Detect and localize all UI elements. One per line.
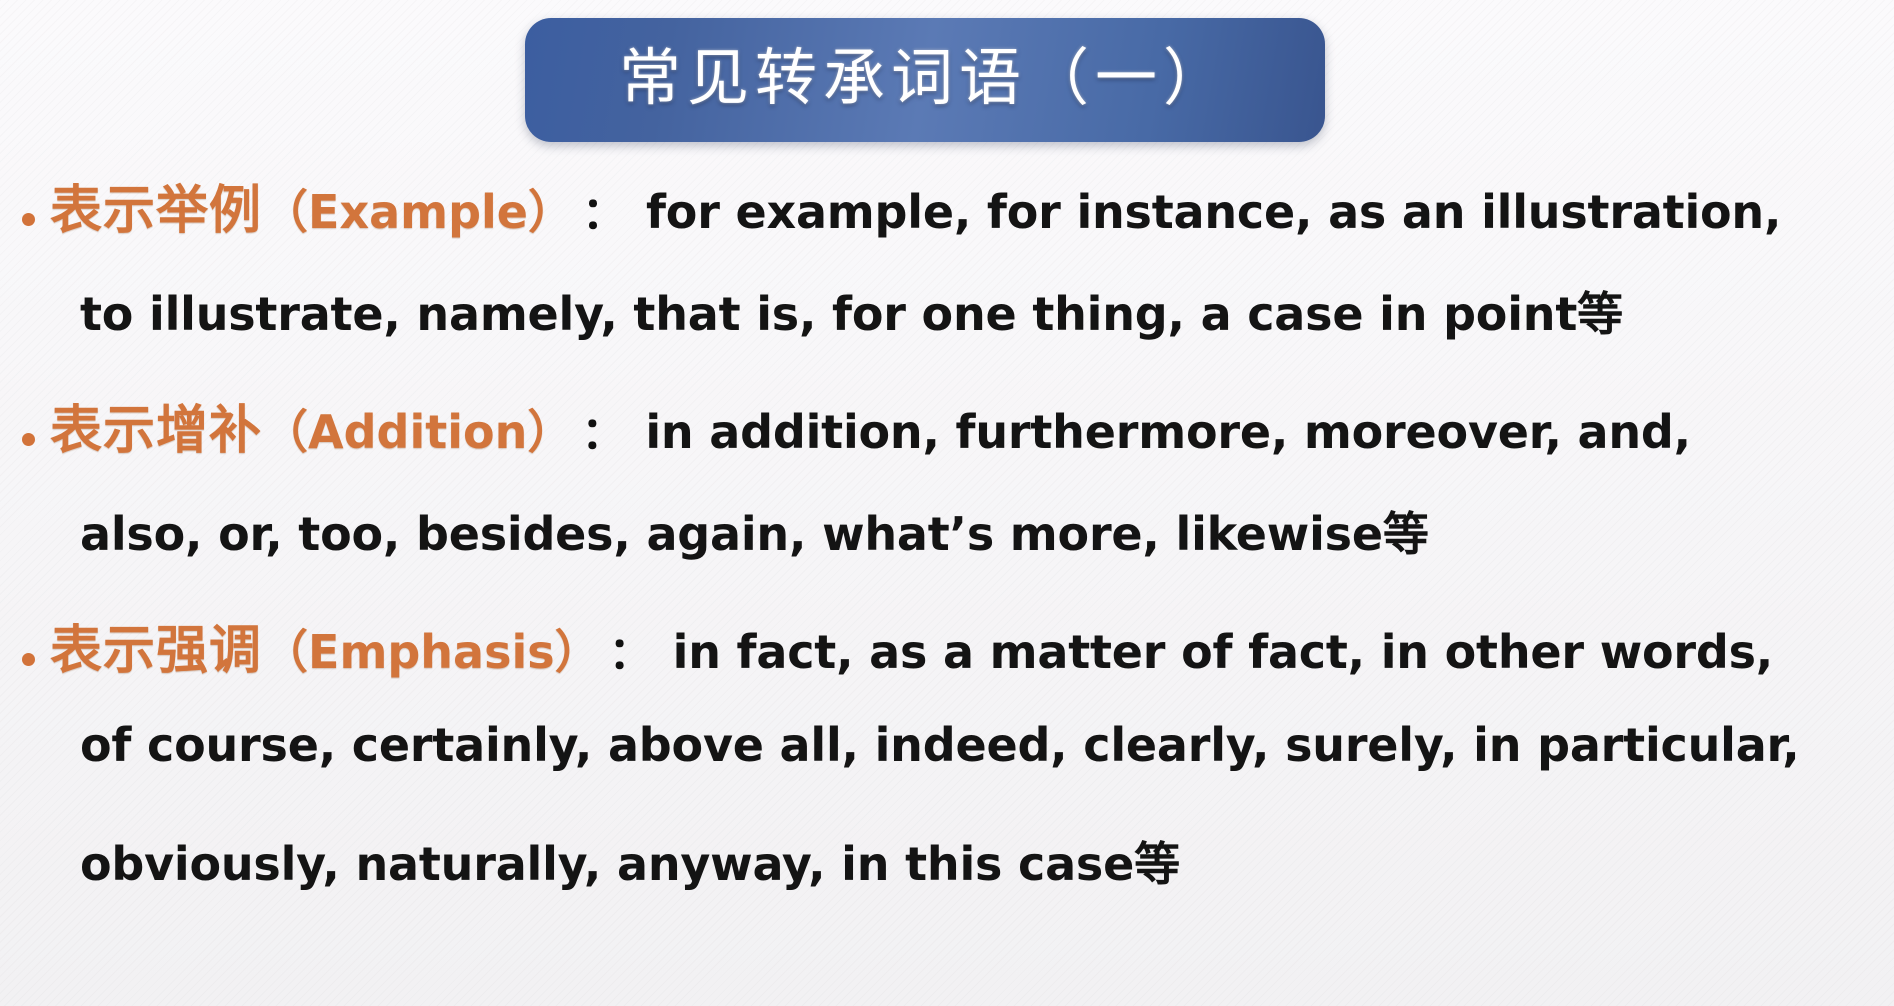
bullet-continuation: obviously, naturally, anyway, in this ca… bbox=[22, 828, 1894, 938]
bullet-list: 表示举例 （Example） ： for example, for instan… bbox=[0, 168, 1894, 938]
bullet-label-cn: 表示强调 bbox=[50, 608, 262, 683]
bullet-headline: 表示增补 （Addition） ： in addition, furthermo… bbox=[22, 388, 1894, 498]
bullet-text-line-3: obviously, naturally, anyway, in this ca… bbox=[22, 828, 1180, 894]
bullet-item-emphasis: 表示强调 （Emphasis） ： in fact, as a matter o… bbox=[0, 608, 1894, 938]
bullet-headline: 表示强调 （Emphasis） ： in fact, as a matter o… bbox=[22, 608, 1894, 718]
bullet-colon: ： bbox=[574, 177, 630, 241]
bullet-label-en: （Addition） bbox=[262, 396, 573, 462]
bullet-item-addition: 表示增补 （Addition） ： in addition, furthermo… bbox=[0, 388, 1894, 608]
bullet-label-en: （Emphasis） bbox=[262, 616, 601, 682]
bullet-text-line-2: of course, certainly, above all, indeed,… bbox=[22, 718, 1800, 772]
bullet-continuation: of course, certainly, above all, indeed,… bbox=[22, 718, 1894, 828]
bullet-continuation: to illustrate, namely, that is, for one … bbox=[22, 278, 1894, 388]
bullet-dot-icon bbox=[22, 213, 35, 226]
bullet-colon: ： bbox=[573, 397, 629, 461]
bullet-continuation: also, or, too, besides, again, what’s mo… bbox=[22, 498, 1894, 608]
title-banner: 常见转承词语（一） bbox=[525, 18, 1325, 142]
bullet-text-line-1: in addition, furthermore, moreover, and, bbox=[645, 405, 1691, 459]
bullet-label-cn: 表示增补 bbox=[50, 388, 262, 463]
bullet-colon: ： bbox=[601, 617, 657, 681]
page-title: 常见转承词语（一） bbox=[619, 47, 1231, 113]
bullet-text-line-2: to illustrate, namely, that is, for one … bbox=[22, 278, 1623, 344]
bullet-dot-icon bbox=[22, 653, 35, 666]
bullet-dot-icon bbox=[22, 433, 35, 446]
bullet-item-example: 表示举例 （Example） ： for example, for instan… bbox=[0, 168, 1894, 388]
bullet-text-line-2: also, or, too, besides, again, what’s mo… bbox=[22, 498, 1429, 564]
bullet-text-line-1: in fact, as a matter of fact, in other w… bbox=[673, 625, 1773, 679]
bullet-text-line-1: for example, for instance, as an illustr… bbox=[646, 185, 1781, 239]
slide-canvas: 常见转承词语（一） 表示举例 （Example） ： for example, … bbox=[0, 0, 1894, 1006]
bullet-headline: 表示举例 （Example） ： for example, for instan… bbox=[22, 168, 1894, 278]
bullet-label-en: （Example） bbox=[262, 176, 574, 242]
bullet-label-cn: 表示举例 bbox=[50, 168, 262, 243]
